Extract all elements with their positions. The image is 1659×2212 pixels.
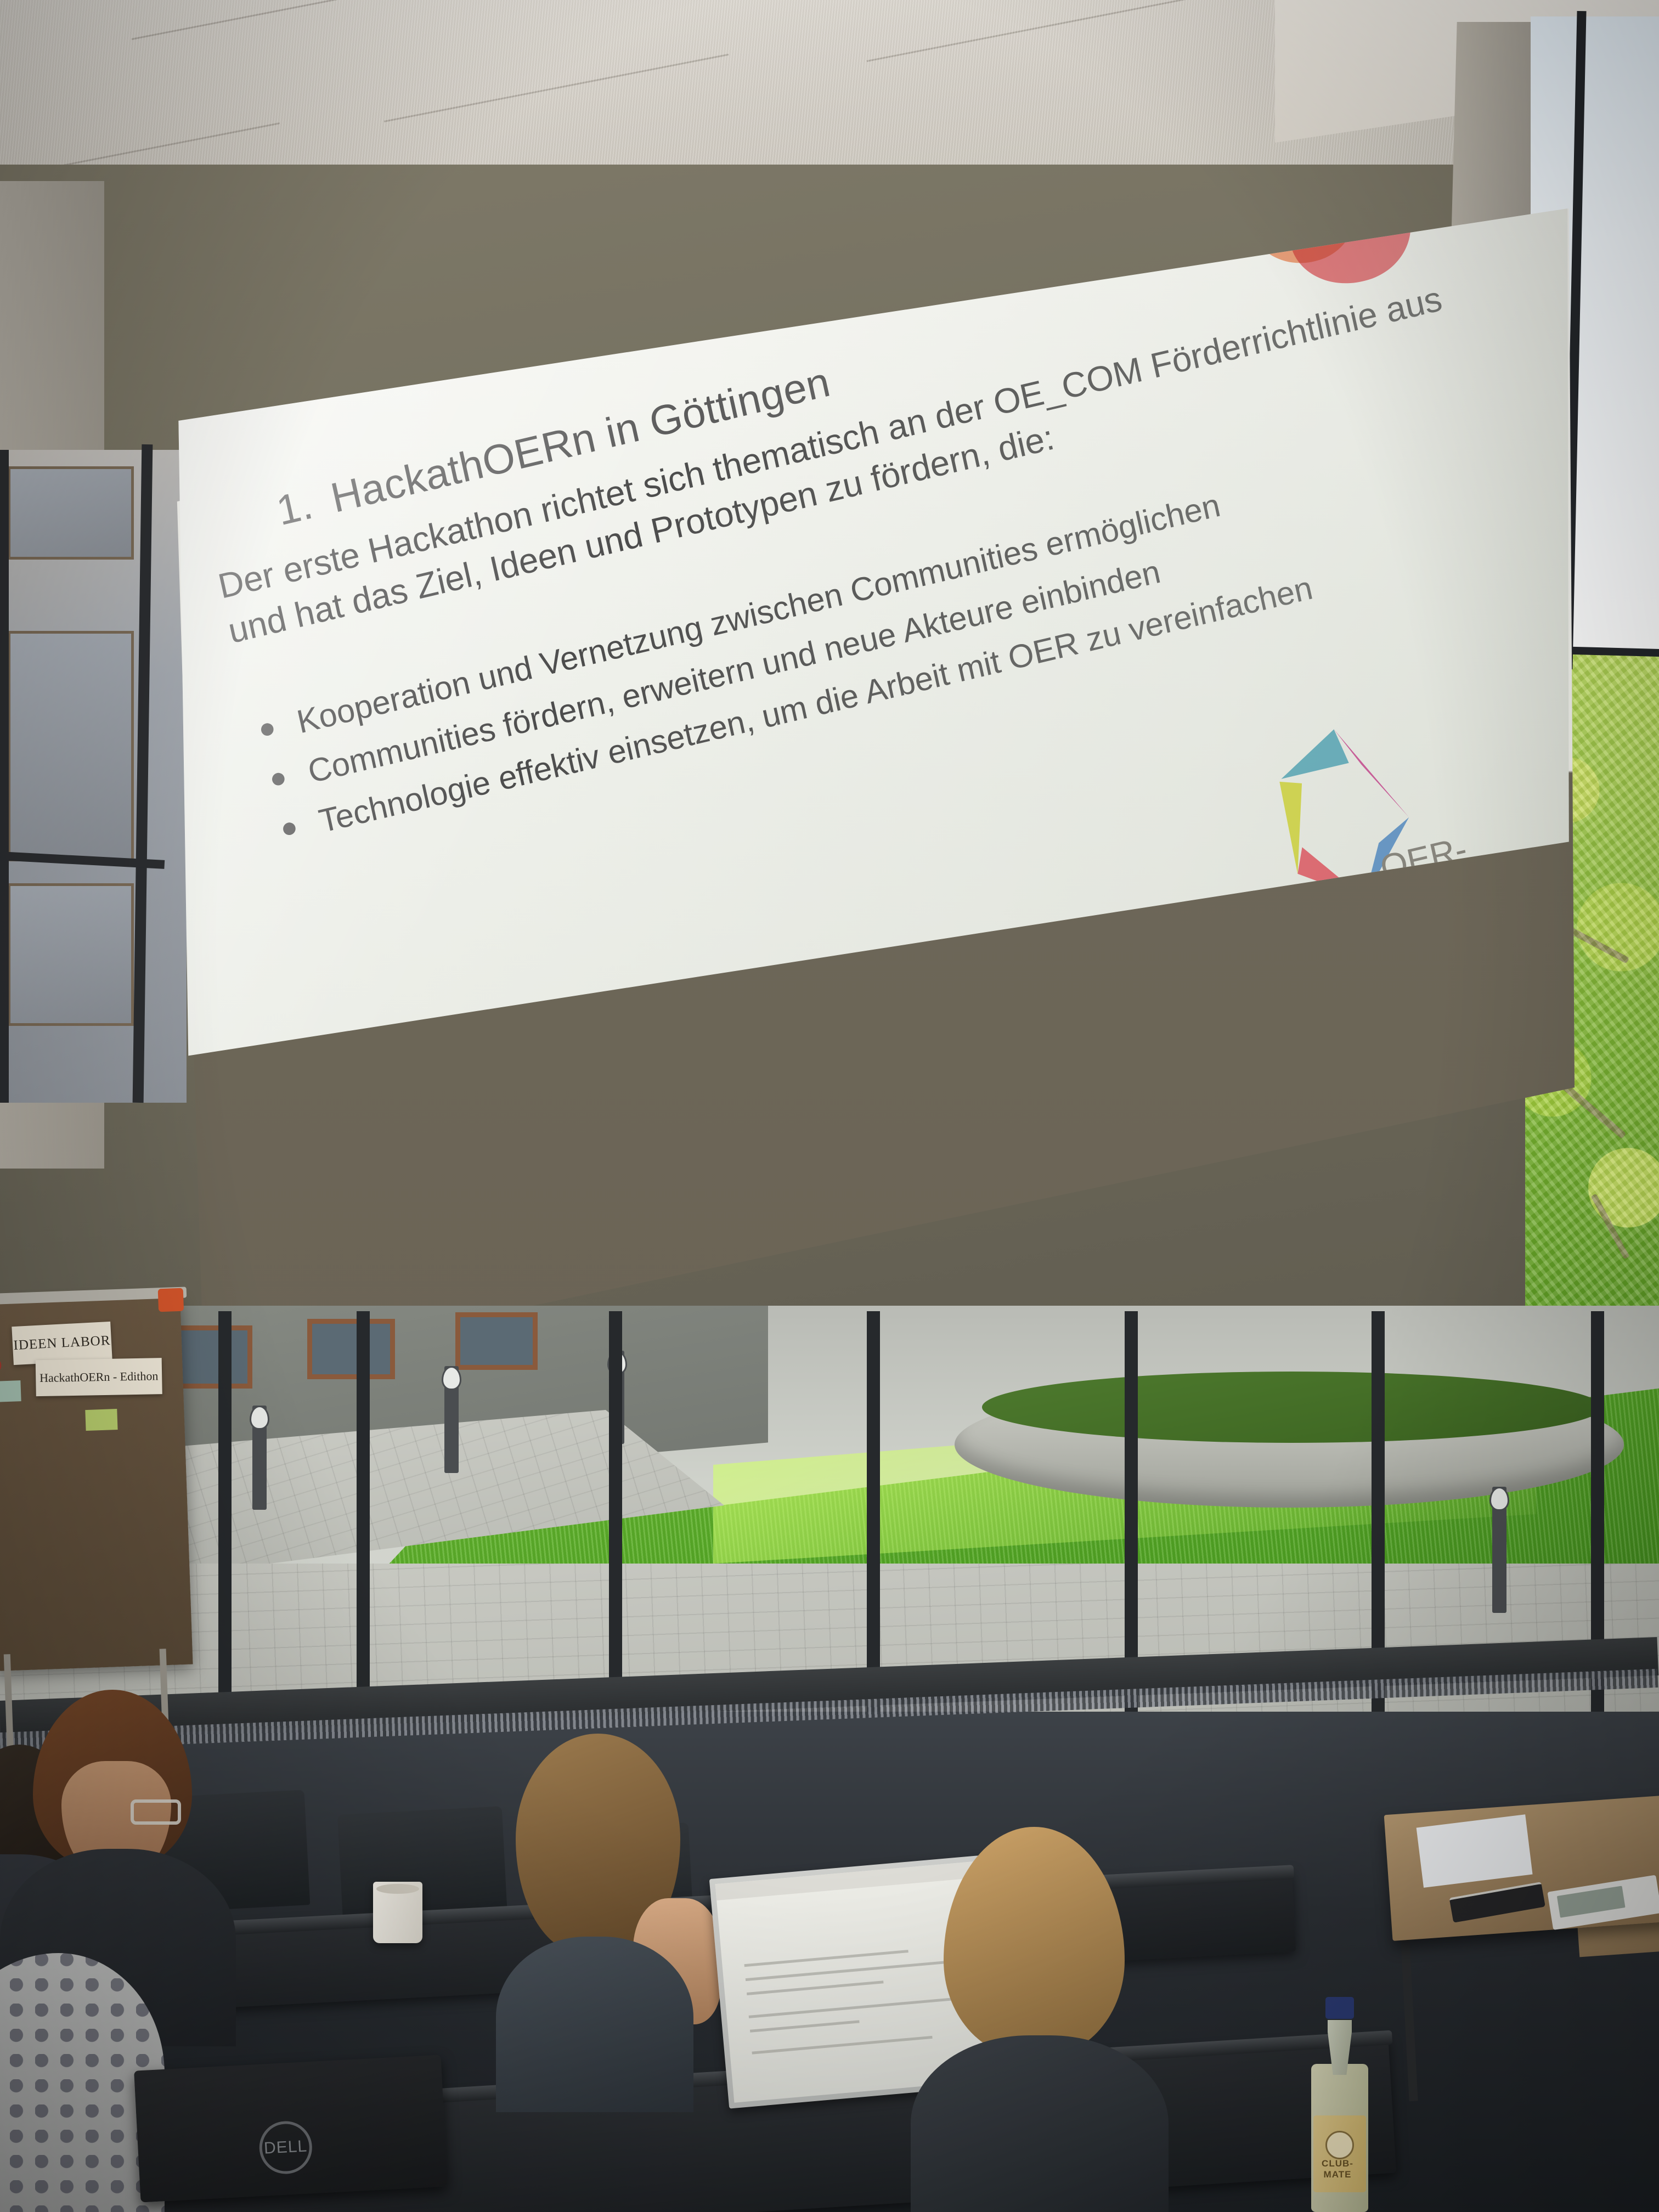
pinboard-sticky-note <box>85 1409 117 1431</box>
hackathoern-oer-text: OER <box>1254 208 1360 247</box>
window-pane <box>8 631 134 861</box>
building-window <box>307 1319 395 1379</box>
window-pane <box>8 883 134 1026</box>
ceiling-seam <box>132 0 412 40</box>
window-wall-left <box>0 450 187 1103</box>
pinboard: IDEEN LABOR HackathOERn - Edithon <box>0 1297 193 1671</box>
bollard-lamp <box>252 1406 267 1510</box>
bollard-lamp <box>444 1366 459 1473</box>
dell-laptop-closed[interactable]: DELL <box>134 2055 448 2203</box>
bollard-lamp <box>1492 1487 1506 1613</box>
eyeglasses <box>131 1799 181 1825</box>
logo-blob-yellow <box>1346 208 1447 225</box>
window-frame <box>133 444 153 1103</box>
seat-back <box>337 1806 507 1924</box>
glass-mullion <box>357 1311 370 1750</box>
projection-screen: Hackath OER n 1.HackathOERn in Göttingen… <box>170 208 1575 1404</box>
dell-logo: DELL <box>258 2120 313 2175</box>
av-control-panel[interactable] <box>1547 1875 1659 1930</box>
club-mate-bottle: CLUB-MATE <box>1311 1997 1368 2212</box>
person-torso <box>496 1937 693 2112</box>
window-pane <box>8 466 134 560</box>
pinboard-corner-clamp <box>158 1288 184 1312</box>
bottle-cap <box>1325 1997 1354 2019</box>
logo-blob-blue <box>1268 208 1408 237</box>
presenter-desk <box>1384 1795 1659 1941</box>
lecture-hall-scene: Hackath OER n 1.HackathOERn in Göttingen… <box>0 0 1659 2212</box>
pinboard-magnet <box>0 1358 2 1373</box>
glass-mullion <box>218 1311 232 1750</box>
coffee-mug <box>373 1882 422 1943</box>
tree-branch <box>1591 1194 1630 1260</box>
person-torso <box>911 2035 1169 2212</box>
building-window <box>455 1312 538 1370</box>
window-frame <box>0 450 9 1103</box>
ceiling-seam <box>867 0 1212 62</box>
pinboard-sticky-note <box>0 1380 21 1402</box>
courtyard-planter-plants <box>982 1372 1602 1443</box>
pinboard-note-edithon: HackathOERn - Edithon <box>36 1358 162 1396</box>
ceiling-seam <box>384 54 729 122</box>
desk-paper <box>1417 1814 1533 1888</box>
slide-title-number: 1. <box>272 481 317 534</box>
bottle-emblem-icon <box>1325 2131 1354 2159</box>
hackathoern-n-text: n <box>1395 208 1434 212</box>
bottle-label-text: CLUB-MATE <box>1311 2158 1364 2180</box>
remote-control[interactable] <box>1449 1882 1545 1923</box>
